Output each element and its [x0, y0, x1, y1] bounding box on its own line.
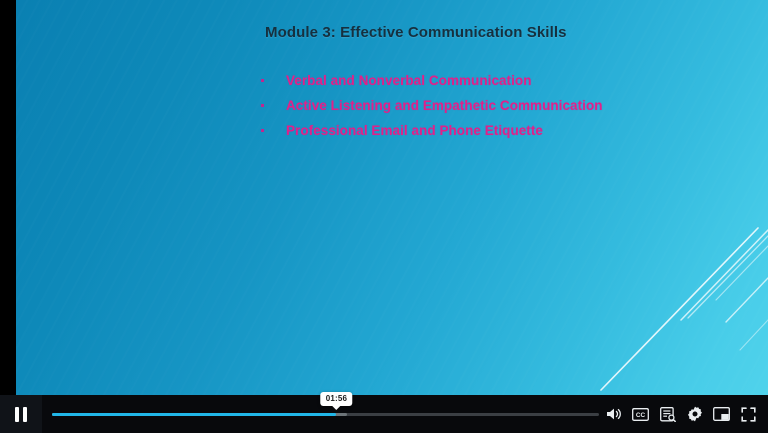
picture-in-picture-icon — [713, 407, 730, 421]
progress-played — [52, 413, 336, 416]
slide-bullet-list: Verbal and Nonverbal Communication Activ… — [261, 68, 603, 143]
bullet-marker-icon — [261, 79, 264, 82]
bullet-label: Professional Email and Phone Etiquette — [286, 123, 543, 138]
bullet-item: Active Listening and Empathetic Communic… — [261, 93, 603, 118]
volume-button[interactable] — [605, 406, 622, 423]
player-control-bar: 01:56 CC — [0, 395, 768, 433]
fullscreen-button[interactable] — [740, 406, 757, 423]
settings-button[interactable] — [686, 406, 703, 423]
video-player: Module 3: Effective Communication Skills… — [0, 0, 768, 433]
bullet-label: Verbal and Nonverbal Communication — [286, 73, 532, 88]
transcript-search-icon — [660, 407, 676, 422]
closed-captions-icon: CC — [632, 408, 649, 421]
slide-stage[interactable]: Module 3: Effective Communication Skills… — [16, 0, 768, 433]
bullet-label: Active Listening and Empathetic Communic… — [286, 98, 603, 113]
diagonal-streaks-decoration — [16, 0, 768, 433]
transcript-search-button[interactable] — [659, 406, 676, 423]
fullscreen-icon — [741, 407, 756, 422]
progress-track[interactable] — [52, 413, 599, 416]
pause-icon — [15, 407, 27, 422]
bullet-marker-icon — [261, 104, 264, 107]
settings-gear-icon — [687, 406, 703, 422]
bullet-item: Verbal and Nonverbal Communication — [261, 68, 603, 93]
closed-captions-button[interactable]: CC — [632, 406, 649, 423]
progress-scrubber[interactable]: 01:56 — [52, 395, 599, 433]
time-tooltip: 01:56 — [321, 392, 352, 406]
svg-text:CC: CC — [636, 412, 646, 419]
slide-title: Module 3: Effective Communication Skills — [265, 24, 567, 41]
bullet-item: Professional Email and Phone Etiquette — [261, 118, 603, 143]
volume-icon — [606, 407, 622, 421]
control-icon-group: CC — [605, 406, 768, 423]
pause-button[interactable] — [0, 395, 42, 433]
picture-in-picture-button[interactable] — [713, 406, 730, 423]
background-banding — [16, 0, 768, 433]
bullet-marker-icon — [261, 129, 264, 132]
